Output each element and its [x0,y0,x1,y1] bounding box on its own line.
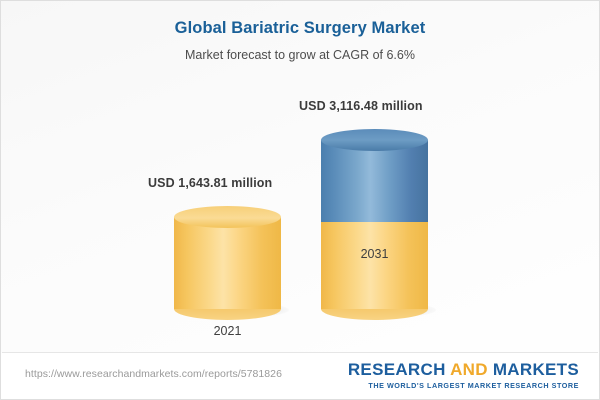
source-url-link[interactable]: https://www.researchandmarkets.com/repor… [25,368,282,380]
bar-top-cap-2021 [174,206,281,228]
research-and-markets-logo[interactable]: RESEARCH AND MARKETS THE WORLD'S LARGEST… [348,361,579,389]
bar-body-blue-2031 [321,140,428,222]
logo-tagline: THE WORLD'S LARGEST MARKET RESEARCH STOR… [348,382,579,389]
bar-cylinder-2021[interactable] [174,206,281,309]
logo-word-markets: MARKETS [493,360,579,379]
category-label-2031: 2031 [321,247,428,261]
category-label-2021: 2021 [174,324,281,338]
chart-plot-area: USD 1,643.81 million 2021 USD 3,116.48 m… [1,1,600,353]
bar-group-2021: USD 1,643.81 million 2021 [174,206,281,309]
chart-card: Global Bariatric Surgery Market Market f… [0,0,600,400]
chart-footer: https://www.researchandmarkets.com/repor… [1,353,599,400]
bar-body-yellow-2021 [174,217,281,309]
logo-word-and: AND [450,360,488,379]
bar-value-label-2031: USD 3,116.48 million [299,99,423,113]
bar-body-yellow-2031 [321,217,428,309]
bar-group-2031: USD 3,116.48 million 2031 [321,129,428,309]
bar-value-label-2021: USD 1,643.81 million [148,176,272,190]
logo-wordmark: RESEARCH AND MARKETS [348,361,579,379]
logo-word-research: RESEARCH [348,360,446,379]
bar-top-cap-2031 [321,129,428,151]
bar-cylinder-2031[interactable] [321,129,428,309]
